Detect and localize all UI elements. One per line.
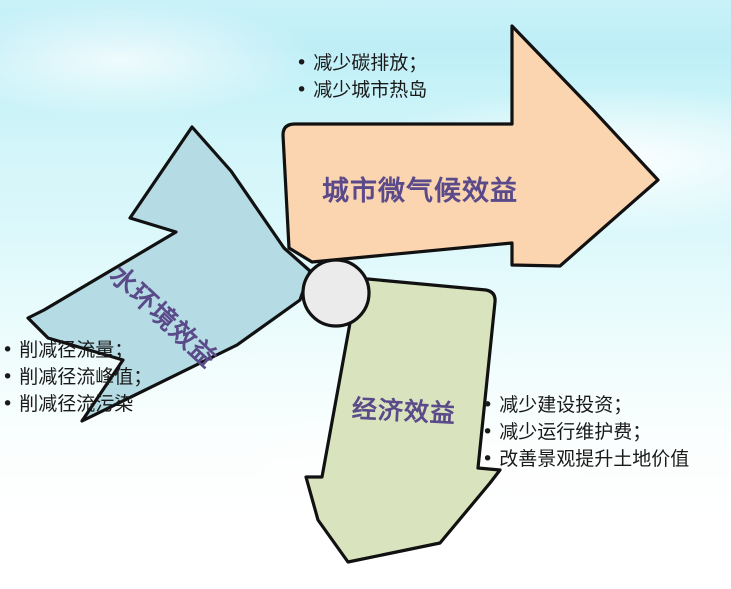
list-item: • 减少城市热岛 xyxy=(296,77,427,104)
diagram-canvas: 城市微气候效益 水环境效益 经济效益 • 减少碳排放； • 减少城市热岛 • 削… xyxy=(0,0,731,589)
list-item: • 削减径流量； xyxy=(2,337,152,364)
list-item: • 削减径流峰值； xyxy=(2,364,152,391)
list-item: • 改善景观提升土地价值 xyxy=(482,446,689,473)
bullet-list-economic: • 减少建设投资； • 减少运行维护费； • 改善景观提升土地价值 xyxy=(482,392,689,473)
bullet-list-water-environment: • 削减径流量； • 削减径流峰值； • 削减径流污染 xyxy=(2,337,152,418)
list-item: • 减少运行维护费； xyxy=(482,419,689,446)
arrow-label-economic: 经济效益 xyxy=(351,389,457,430)
list-item: • 减少建设投资； xyxy=(482,392,689,419)
bullet-list-micro-climate: • 减少碳排放； • 减少城市热岛 xyxy=(296,50,427,104)
center-circle xyxy=(303,260,369,326)
list-item: • 减少碳排放； xyxy=(296,50,427,77)
list-item: • 削减径流污染 xyxy=(2,391,152,418)
arrow-label-micro-climate: 城市微气候效益 xyxy=(322,169,518,208)
